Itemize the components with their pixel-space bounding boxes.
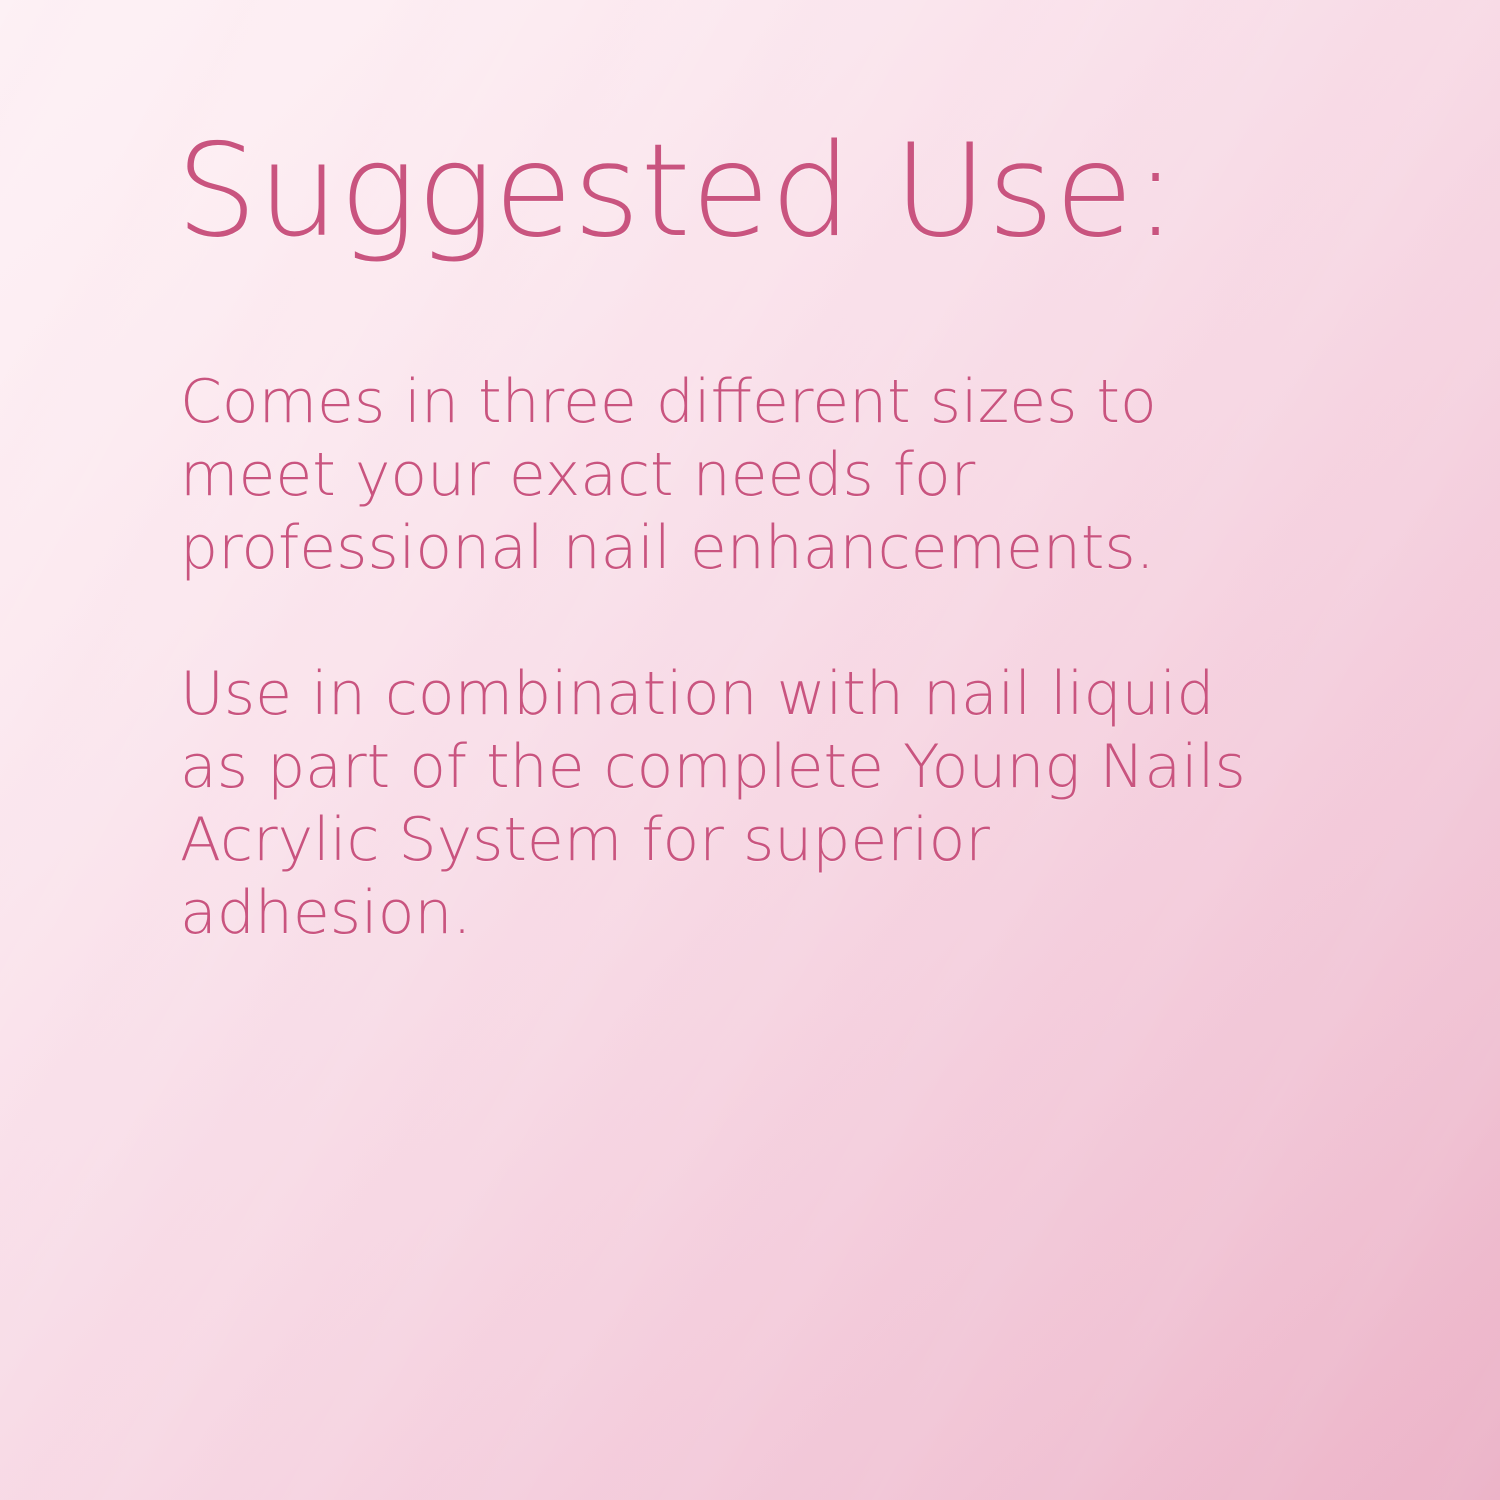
paragraph-sizes: Comes in three different sizes to meet y… [180, 366, 1295, 585]
suggested-use-panel: Suggested Use: Comes in three different … [0, 0, 1500, 1500]
paragraph-usage: Use in combination with nail liquid as p… [180, 658, 1295, 950]
body-text-block: Comes in three different sizes to meet y… [180, 366, 1295, 950]
page-title: Suggested Use: [176, 128, 1178, 256]
